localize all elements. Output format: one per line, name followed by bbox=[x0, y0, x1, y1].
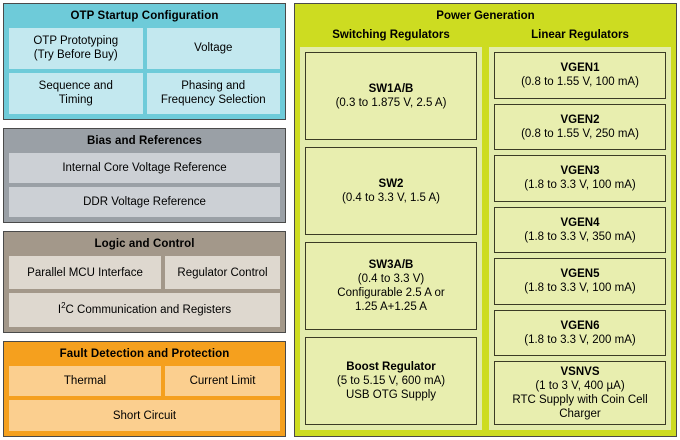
reg-name-sw2: SW2 bbox=[379, 177, 404, 191]
reg-detail-sw3ab-line1: (0.4 to 3.3 V) bbox=[358, 272, 424, 286]
column-title-switching-regulators: Switching Regulators bbox=[300, 27, 482, 47]
fault-row-2: Short Circuit bbox=[9, 400, 280, 431]
reg-detail-vsnvs-line2: RTC Supply with Coin Cell bbox=[512, 393, 647, 407]
otp-cell-sequence-timing: Sequence and Timing bbox=[9, 73, 143, 114]
reg-detail-boost-line1: (5 to 5.15 V, 600 mA) bbox=[337, 374, 445, 388]
logic-cell-i2c-communication-and-registers: I2C Communication and Registers bbox=[9, 293, 280, 327]
reg-detail-sw2-line1: (0.4 to 3.3 V, 1.5 A) bbox=[342, 191, 440, 205]
reg-detail-vgen2-line1: (0.8 to 1.55 V, 250 mA) bbox=[521, 127, 639, 141]
reg-detail-sw3ab-line2: Configurable 2.5 A or bbox=[337, 286, 444, 300]
switching-regulators-list: SW1A/B (0.3 to 1.875 V, 2.5 A) SW2 (0.4 … bbox=[300, 47, 482, 430]
otp-cell-voltage-line1: Voltage bbox=[194, 41, 232, 55]
reg-box-vsnvs: VSNVS (1 to 3 V, 400 µA) RTC Supply with… bbox=[494, 361, 666, 425]
reg-box-vgen1: VGEN1 (0.8 to 1.55 V, 100 mA) bbox=[494, 52, 666, 99]
panel-body-bias: Internal Core Voltage Reference DDR Volt… bbox=[9, 153, 280, 217]
reg-detail-vgen5-line1: (1.8 to 3.3 V, 100 mA) bbox=[524, 281, 635, 295]
reg-box-vgen3: VGEN3 (1.8 to 3.3 V, 100 mA) bbox=[494, 155, 666, 202]
otp-cell-voltage: Voltage bbox=[147, 28, 281, 69]
reg-name-vgen3: VGEN3 bbox=[561, 164, 600, 178]
panel-title-fault: Fault Detection and Protection bbox=[9, 346, 280, 366]
panel-body-fault: Thermal Current Limit Short Circuit bbox=[9, 366, 280, 431]
panel-title-power-generation: Power Generation bbox=[300, 7, 671, 27]
reg-box-vgen2: VGEN2 (0.8 to 1.55 V, 250 mA) bbox=[494, 104, 666, 151]
reg-name-vgen2: VGEN2 bbox=[561, 113, 600, 127]
reg-box-sw3ab: SW3A/B (0.4 to 3.3 V) Configurable 2.5 A… bbox=[305, 242, 477, 330]
reg-name-vgen5: VGEN5 bbox=[561, 267, 600, 281]
bias-row-2: DDR Voltage Reference bbox=[9, 187, 280, 217]
panel-fault-detection-and-protection: Fault Detection and Protection Thermal C… bbox=[3, 341, 286, 437]
logic-cell-regulator-control: Regulator Control bbox=[165, 256, 280, 290]
reg-name-sw1ab: SW1A/B bbox=[369, 82, 414, 96]
otp-cell-sequence-timing-line2: Timing bbox=[39, 93, 113, 107]
otp-row-1: OTP Prototyping (Try Before Buy) Voltage bbox=[9, 28, 280, 69]
reg-detail-sw1ab-line1: (0.3 to 1.875 V, 2.5 A) bbox=[336, 96, 447, 110]
reg-detail-vsnvs-line3: Charger bbox=[559, 407, 601, 421]
right-column: Power Generation Switching Regulators SW… bbox=[294, 0, 680, 440]
bias-cell-ddr-voltage-reference: DDR Voltage Reference bbox=[9, 187, 280, 217]
otp-cell-prototyping-line2: (Try Before Buy) bbox=[33, 48, 118, 62]
panel-body-otp: OTP Prototyping (Try Before Buy) Voltage… bbox=[9, 28, 280, 114]
otp-cell-prototyping: OTP Prototyping (Try Before Buy) bbox=[9, 28, 143, 69]
reg-name-vgen4: VGEN4 bbox=[561, 216, 600, 230]
reg-box-sw1ab: SW1A/B (0.3 to 1.875 V, 2.5 A) bbox=[305, 52, 477, 140]
linear-regulators-list: VGEN1 (0.8 to 1.55 V, 100 mA) VGEN2 (0.8… bbox=[489, 47, 671, 430]
reg-detail-boost-line2: USB OTG Supply bbox=[346, 388, 436, 402]
otp-cell-prototyping-line1: OTP Prototyping bbox=[33, 34, 118, 48]
panel-otp-startup-configuration: OTP Startup Configuration OTP Prototypin… bbox=[3, 3, 286, 120]
panel-body-logic: Parallel MCU Interface Regulator Control… bbox=[9, 256, 280, 327]
reg-detail-vgen6-line1: (1.8 to 3.3 V, 200 mA) bbox=[524, 333, 635, 347]
reg-name-sw3ab: SW3A/B bbox=[369, 258, 414, 272]
panel-title-logic: Logic and Control bbox=[9, 236, 280, 256]
left-column: OTP Startup Configuration OTP Prototypin… bbox=[0, 0, 286, 440]
otp-cell-phasing-frequency: Phasing and Frequency Selection bbox=[147, 73, 281, 114]
logic-row-1: Parallel MCU Interface Regulator Control bbox=[9, 256, 280, 290]
otp-row-2: Sequence and Timing Phasing and Frequenc… bbox=[9, 73, 280, 114]
reg-detail-sw3ab-line3: 1.25 A+1.25 A bbox=[355, 300, 427, 314]
logic-row-2: I2C Communication and Registers bbox=[9, 293, 280, 327]
power-columns: Switching Regulators SW1A/B (0.3 to 1.87… bbox=[300, 27, 671, 430]
bias-cell-internal-core-voltage-reference: Internal Core Voltage Reference bbox=[9, 153, 280, 183]
otp-cell-sequence-timing-line1: Sequence and bbox=[39, 79, 113, 93]
fault-cell-current-limit: Current Limit bbox=[165, 366, 280, 397]
column-switching-regulators: Switching Regulators SW1A/B (0.3 to 1.87… bbox=[300, 27, 482, 430]
reg-box-sw2: SW2 (0.4 to 3.3 V, 1.5 A) bbox=[305, 147, 477, 235]
reg-detail-vgen3-line1: (1.8 to 3.3 V, 100 mA) bbox=[524, 178, 635, 192]
panel-power-generation: Power Generation Switching Regulators SW… bbox=[294, 3, 677, 437]
otp-cell-phasing-frequency-line1: Phasing and bbox=[161, 79, 266, 93]
reg-box-boost-regulator: Boost Regulator (5 to 5.15 V, 600 mA) US… bbox=[305, 337, 477, 425]
panel-title-bias: Bias and References bbox=[9, 133, 280, 153]
reg-name-vgen1: VGEN1 bbox=[561, 61, 600, 75]
reg-name-vsnvs: VSNVS bbox=[561, 365, 600, 379]
panel-bias-and-references: Bias and References Internal Core Voltag… bbox=[3, 128, 286, 223]
logic-cell-parallel-mcu-interface: Parallel MCU Interface bbox=[9, 256, 161, 290]
reg-detail-vgen1-line1: (0.8 to 1.55 V, 100 mA) bbox=[521, 75, 639, 89]
fault-cell-short-circuit: Short Circuit bbox=[9, 400, 280, 431]
reg-box-vgen5: VGEN5 (1.8 to 3.3 V, 100 mA) bbox=[494, 258, 666, 305]
reg-name-boost-regulator: Boost Regulator bbox=[346, 360, 435, 374]
fault-row-1: Thermal Current Limit bbox=[9, 366, 280, 397]
column-title-linear-regulators: Linear Regulators bbox=[489, 27, 671, 47]
reg-box-vgen6: VGEN6 (1.8 to 3.3 V, 200 mA) bbox=[494, 310, 666, 357]
superscript-two: 2 bbox=[61, 301, 65, 310]
logic-cell-i2c-text: I2C Communication and Registers bbox=[58, 303, 231, 317]
reg-name-vgen6: VGEN6 bbox=[561, 319, 600, 333]
panel-title-otp: OTP Startup Configuration bbox=[9, 8, 280, 28]
otp-cell-phasing-frequency-line2: Frequency Selection bbox=[161, 93, 266, 107]
block-diagram: OTP Startup Configuration OTP Prototypin… bbox=[0, 0, 680, 440]
reg-detail-vsnvs-line1: (1 to 3 V, 400 µA) bbox=[535, 379, 624, 393]
reg-box-vgen4: VGEN4 (1.8 to 3.3 V, 350 mA) bbox=[494, 207, 666, 254]
fault-cell-thermal: Thermal bbox=[9, 366, 161, 397]
bias-row-1: Internal Core Voltage Reference bbox=[9, 153, 280, 183]
panel-logic-and-control: Logic and Control Parallel MCU Interface… bbox=[3, 231, 286, 333]
column-linear-regulators: Linear Regulators VGEN1 (0.8 to 1.55 V, … bbox=[489, 27, 671, 430]
reg-detail-vgen4-line1: (1.8 to 3.3 V, 350 mA) bbox=[524, 230, 635, 244]
